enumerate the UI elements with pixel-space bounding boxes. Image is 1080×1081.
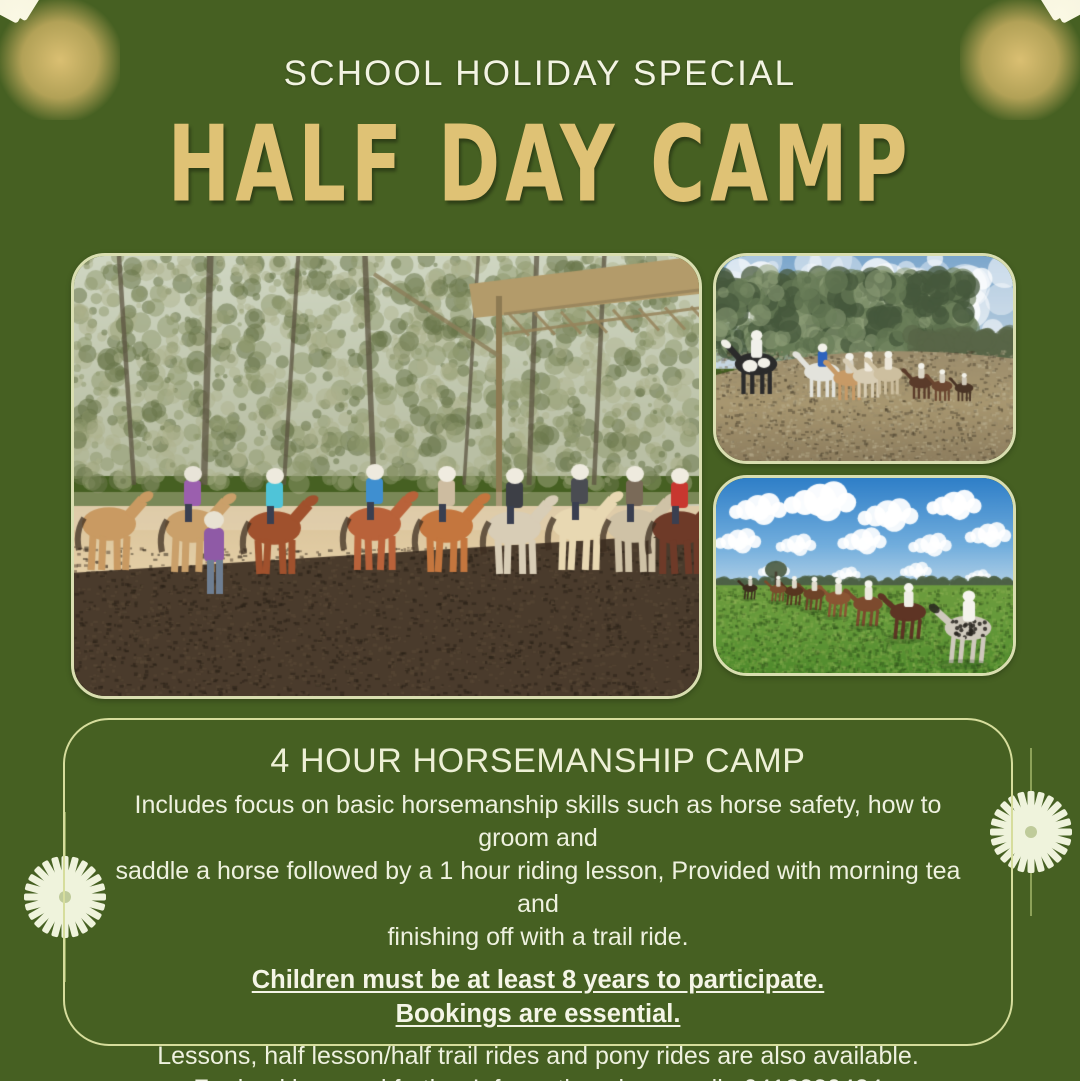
emphasis-age-requirement: Children must be at least 8 years to par… <box>111 963 965 997</box>
photo-trail-ride-hillside <box>713 253 1016 464</box>
description-line-2: saddle a horse followed by a 1 hour ridi… <box>111 855 965 921</box>
emphasis-bookings-essential: Bookings are essential. <box>111 997 965 1031</box>
info-panel: 4 HOUR HORSEMANSHIP CAMP Includes focus … <box>63 718 1013 1046</box>
medallion-hub <box>1025 826 1037 838</box>
panel-heading: 4 HOUR HORSEMANSHIP CAMP <box>111 742 965 781</box>
photo-trail-ride-green-paddock <box>713 475 1016 676</box>
kicker-text: SCHOOL HOLIDAY SPECIAL <box>0 54 1080 94</box>
description-line-1: Includes focus on basic horsemanship ski… <box>111 789 965 855</box>
page-title: HALF DAY CAMP <box>16 104 1064 226</box>
extra-line-1: Lessons, half lesson/half trail rides an… <box>111 1040 965 1073</box>
photo-arena-group-lesson <box>71 253 702 699</box>
photo-collage <box>63 245 1018 695</box>
description-line-3: finishing off with a trail ride. <box>111 921 965 954</box>
extra-line-phone: For bookings and further Information ple… <box>111 1073 965 1081</box>
flyer-poster: SCHOOL HOLIDAY SPECIAL HALF DAY CAMP 4 H… <box>0 0 1080 1081</box>
